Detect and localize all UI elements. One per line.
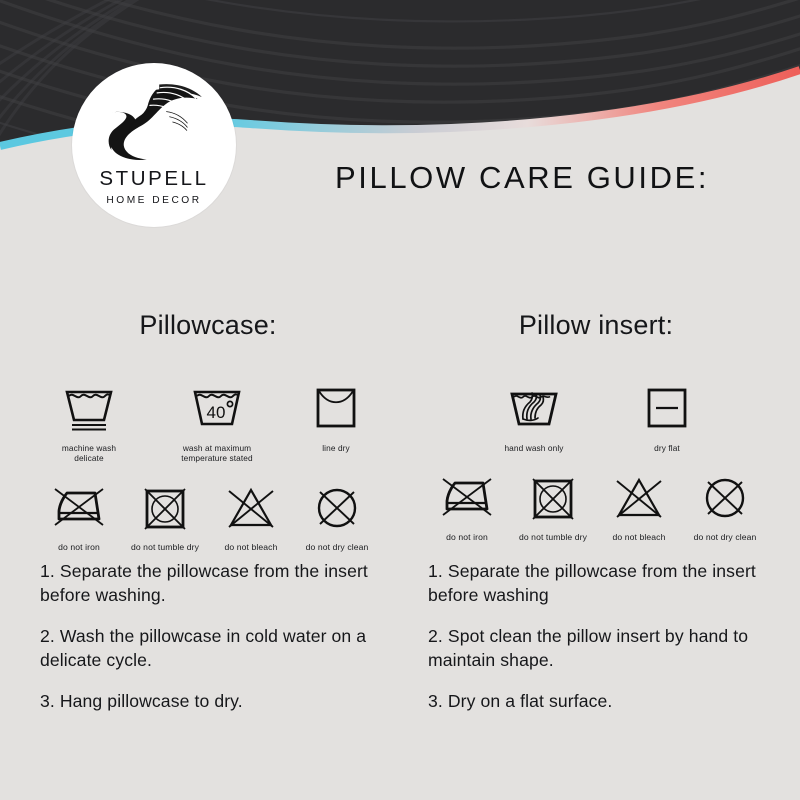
symbol-label: wash at maximum temperature stated bbox=[181, 444, 252, 464]
instruction-step: 2. Wash the pillowcase in cold water on … bbox=[40, 625, 402, 673]
symbol-label: do not bleach bbox=[225, 542, 278, 552]
do-not-dry-clean-icon bbox=[699, 470, 751, 526]
pillow-care-guide-page: STUPELL HOME DECOR PILLOW CARE GUIDE: Pi… bbox=[0, 0, 800, 800]
brand-tagline: HOME DECOR bbox=[106, 196, 201, 206]
symbol-dry-flat: dry flat bbox=[628, 381, 706, 454]
symbol-label: do not iron bbox=[58, 542, 100, 552]
symbol-do-not-dry-clean: do not dry clean bbox=[301, 480, 373, 552]
dry-flat-icon bbox=[641, 381, 693, 437]
symbol-do-not-tumble-dry: do not tumble dry bbox=[129, 480, 201, 552]
prohibition-symbol-row-pillow-insert: do not iron do not tumble dry bbox=[410, 470, 782, 542]
hand-wash-only-icon bbox=[506, 381, 562, 437]
symbol-label: do not bleach bbox=[613, 532, 666, 542]
section-pillowcase: Pillowcase: machine wash delicate bbox=[22, 312, 394, 552]
instruction-step: 1. Separate the pillowcase from the inse… bbox=[40, 560, 402, 608]
prohibition-symbol-row-pillowcase: do not iron do not tumble dry bbox=[22, 480, 394, 552]
symbol-wash-max-temperature: 40 wash at maximum temperature stated bbox=[169, 381, 265, 464]
wash-max-temperature-icon: 40 bbox=[189, 381, 245, 437]
symbol-label: do not tumble dry bbox=[519, 532, 587, 542]
symbol-label: machine wash delicate bbox=[62, 444, 116, 464]
symbol-do-not-iron: do not iron bbox=[431, 470, 503, 542]
symbol-label: do not dry clean bbox=[306, 542, 369, 552]
symbol-hand-wash-only: hand wash only bbox=[486, 381, 582, 454]
symbol-do-not-iron: do not iron bbox=[43, 480, 115, 552]
instruction-step: 1. Separate the pillowcase from the inse… bbox=[428, 560, 790, 608]
do-not-tumble-dry-icon bbox=[527, 470, 579, 526]
do-not-dry-clean-icon bbox=[311, 480, 363, 536]
brand-logo: STUPELL HOME DECOR bbox=[72, 63, 236, 227]
symbol-label: hand wash only bbox=[504, 444, 563, 454]
instruction-step: 2. Spot clean the pillow insert by hand … bbox=[428, 625, 790, 673]
symbol-label: do not iron bbox=[446, 532, 488, 542]
symbol-do-not-dry-clean: do not dry clean bbox=[689, 470, 761, 542]
brand-name: STUPELL bbox=[99, 169, 208, 190]
symbol-label: dry flat bbox=[654, 444, 680, 454]
page-title: PILLOW CARE GUIDE: bbox=[335, 160, 765, 196]
instructions-pillowcase: 1. Separate the pillowcase from the inse… bbox=[40, 560, 402, 714]
symbol-line-dry: line dry bbox=[297, 381, 375, 454]
symbol-label: do not tumble dry bbox=[131, 542, 199, 552]
svg-text:40: 40 bbox=[207, 403, 226, 422]
symbol-do-not-tumble-dry: do not tumble dry bbox=[517, 470, 589, 542]
do-not-iron-icon bbox=[51, 480, 107, 536]
symbol-do-not-bleach: do not bleach bbox=[215, 480, 287, 552]
section-heading-pillow-insert: Pillow insert: bbox=[410, 312, 782, 339]
stupell-swoosh-logo-icon bbox=[102, 80, 206, 164]
wash-symbol-row-pillow-insert: hand wash only dry flat bbox=[410, 381, 782, 454]
line-dry-icon bbox=[310, 381, 362, 437]
section-pillow-insert: Pillow insert: bbox=[410, 312, 782, 542]
do-not-bleach-icon bbox=[613, 470, 665, 526]
do-not-tumble-dry-icon bbox=[139, 480, 191, 536]
symbol-machine-wash-delicate: machine wash delicate bbox=[41, 381, 137, 464]
instruction-step: 3. Dry on a flat surface. bbox=[428, 690, 790, 714]
instruction-step: 3. Hang pillowcase to dry. bbox=[40, 690, 402, 714]
section-heading-pillowcase: Pillowcase: bbox=[22, 312, 394, 339]
do-not-bleach-icon bbox=[225, 480, 277, 536]
instructions-pillow-insert: 1. Separate the pillowcase from the inse… bbox=[428, 560, 790, 714]
symbol-label: do not dry clean bbox=[694, 532, 757, 542]
symbol-label: line dry bbox=[322, 444, 350, 454]
wash-symbol-row-pillowcase: machine wash delicate 40 wash at maximum… bbox=[22, 381, 394, 464]
symbol-do-not-bleach: do not bleach bbox=[603, 470, 675, 542]
machine-wash-delicate-icon bbox=[61, 381, 117, 437]
do-not-iron-icon bbox=[439, 470, 495, 526]
